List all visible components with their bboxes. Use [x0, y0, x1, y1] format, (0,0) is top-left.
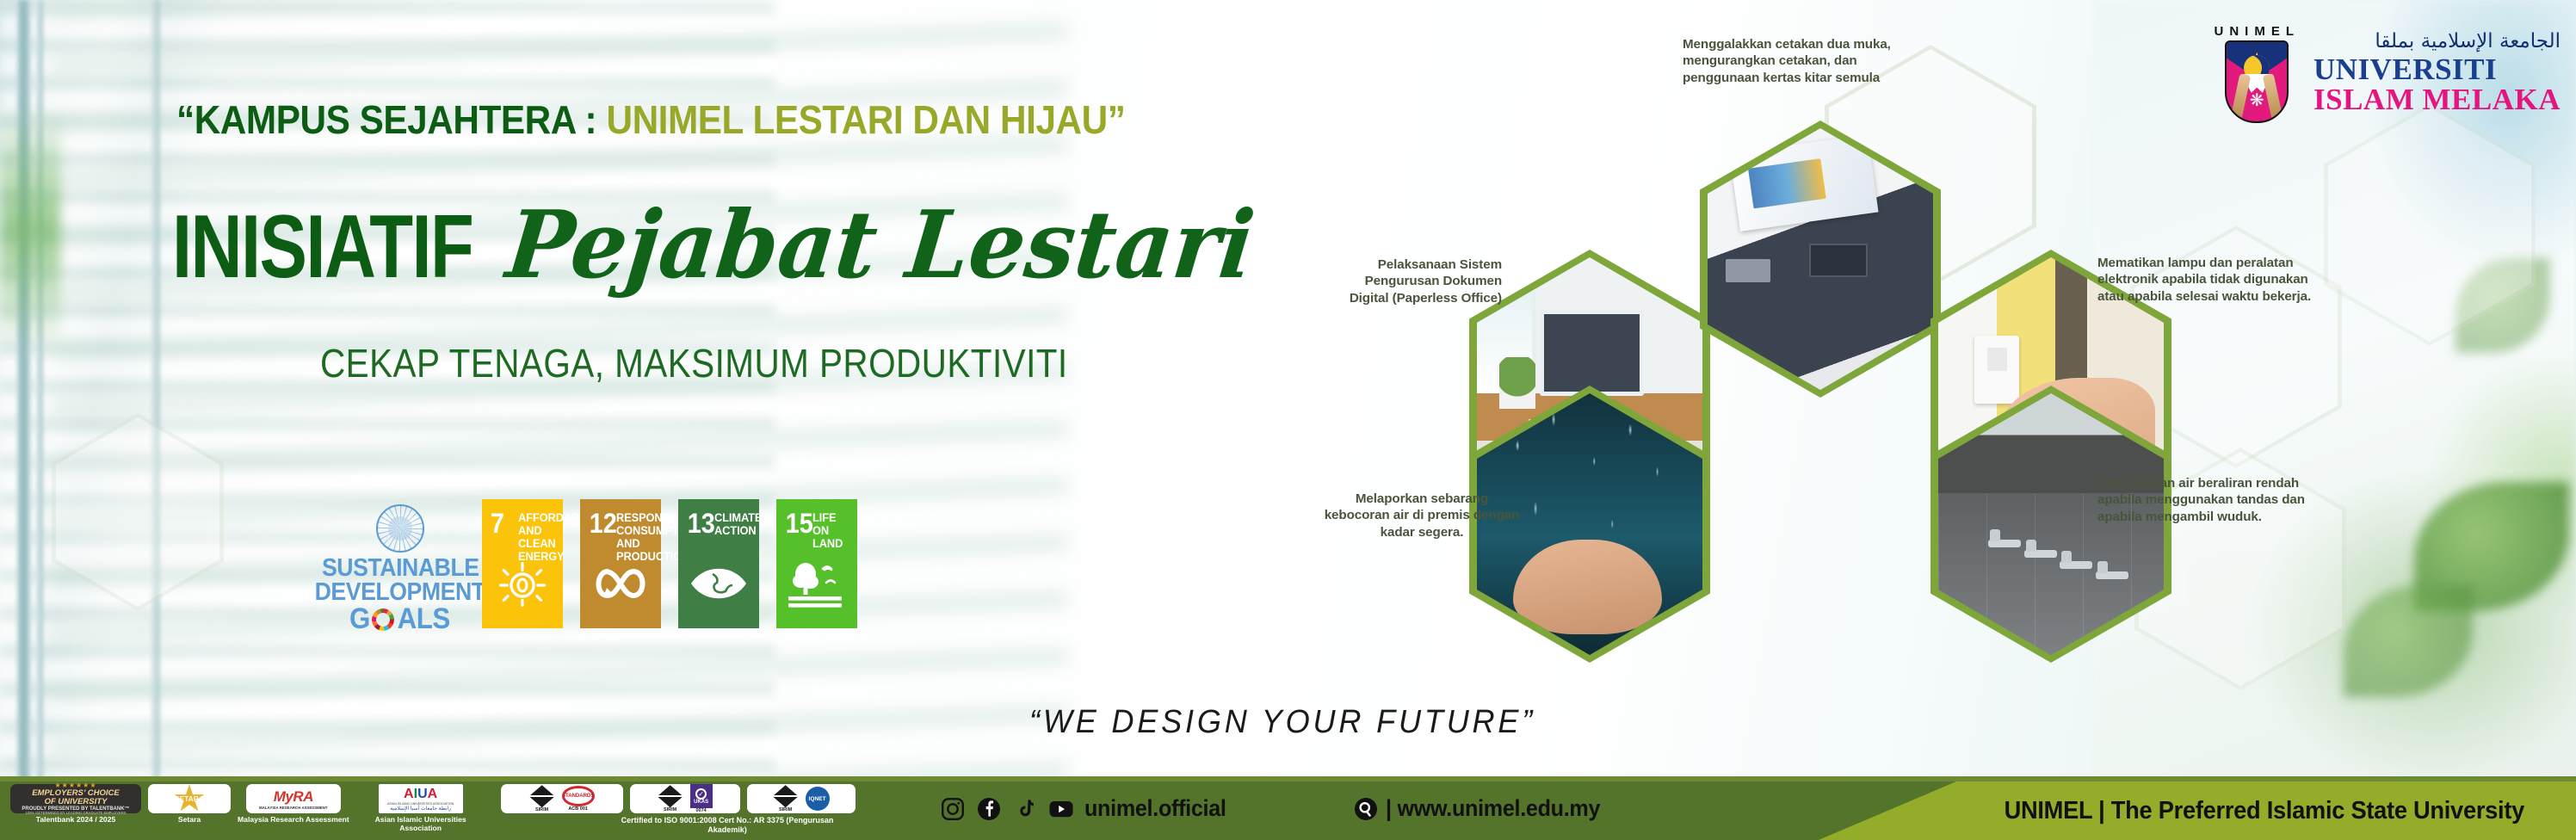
tagline: “WE DESIGN YOUR FUTURE”	[1029, 704, 1535, 741]
infinity-icon	[580, 553, 661, 615]
sdg-card-15[interactable]: 15 LIFE ON LAND	[776, 499, 857, 628]
headline: “KAMPUS SEJAHTERA : UNIMEL LESTARI DAN H…	[176, 96, 1125, 143]
sdg-color-wheel-icon	[372, 608, 394, 631]
cert-setara[interactable]: SETARA Setara	[148, 784, 231, 825]
cert-caption: Talentbank 2024 / 2025	[36, 816, 116, 825]
check-icon: ✓	[695, 788, 707, 800]
sirim-diamond-icon	[773, 785, 799, 807]
globe-eye-icon	[678, 553, 759, 615]
page-title: INISIATIFPejabat Lestari	[172, 191, 1287, 300]
crest-shield-icon: ★ ❋	[2225, 40, 2289, 123]
brand-arabic-text: الجامعة الإسلامية بملقا	[2313, 32, 2561, 52]
annotation-paperless-office: Pelaksanaan Sistem Pengurusan Dokumen Di…	[1325, 256, 1502, 306]
footer-bar: ★★★★★★ EMPLOYERS’ CHOICE OF UNIVERSITY P…	[0, 781, 2576, 840]
cert-talentbank-line2: OF UNIVERSITY	[45, 798, 108, 806]
sdg-section: SUSTAINABLE DEVELOPMENT G ALS 7 AFFORDAB…	[336, 499, 857, 633]
flower-icon: ❋	[2250, 92, 2264, 109]
unimel-wordmark: الجامعة الإسلامية بملقا UNIVERSITI ISLAM…	[2313, 32, 2561, 115]
ukas-label: UKAS	[694, 800, 708, 805]
sdg-card-13[interactable]: 13 CLIMATE ACTION	[678, 499, 759, 628]
iso-certification-caption: Certified to ISO 9001:2008 Cert No.: AR …	[602, 816, 852, 835]
sirim-diamond-icon	[658, 785, 683, 807]
page-subtitle: CEKAP TENAGA, MAKSIMUM PRODUKTIVITI	[320, 340, 1068, 386]
sirim-label: SIRIM	[779, 807, 792, 812]
title-script-word: Pejabat Lestari	[502, 191, 1259, 300]
aiua-letter-1: A	[404, 787, 414, 801]
cert-aiua[interactable]: AIUA ASIAN ISLAMIC UNIVERSITIES ASSOCIAT…	[356, 784, 485, 833]
sdg-logo: SUSTAINABLE DEVELOPMENT G ALS	[336, 499, 465, 633]
website-group: | www.unimel.edu.my	[1353, 795, 1616, 822]
sirim-diamond-icon	[529, 785, 555, 807]
cert-sirim-ukas[interactable]: SIRIM ✓ UKAS 0074	[630, 784, 740, 813]
standards-label: STANDARDS	[562, 794, 594, 799]
iqnet-icon: IQNET	[806, 787, 830, 811]
crest-wordmark: UNIMEL	[2215, 24, 2301, 39]
sdg-card-number: 12	[590, 510, 617, 537]
brand-line1: UNIVERSITI	[2313, 54, 2561, 85]
sirim-code: 0074	[696, 808, 707, 813]
banner-root: “KAMPUS SEJAHTERA : UNIMEL LESTARI DAN H…	[0, 0, 2576, 840]
aiua-arabic: رابطة جامعات آسيا الإسلامية	[390, 806, 451, 812]
sirim-label: SIRIM	[535, 807, 548, 812]
sdg-goals-als: ALS	[397, 605, 449, 633]
standards-malaysia-icon: STANDARDS	[562, 786, 595, 806]
unimel-crest: UNIMEL ★ ❋	[2215, 24, 2301, 123]
myra-subtext: MALAYSIA RESEARCH ASSESSMENT	[259, 806, 328, 810]
myra-wordmark: MyRA	[274, 788, 313, 806]
background-vertical-bar-3	[151, 0, 160, 781]
sdg-card-label: LIFE ON LAND	[812, 511, 850, 550]
sdg-card-number: 15	[786, 510, 813, 537]
ukas-icon: ✓ UKAS	[690, 784, 713, 808]
iqnet-label: IQNET	[809, 796, 826, 802]
keris-right-icon	[2263, 73, 2283, 120]
tiktok-icon[interactable]	[1012, 796, 1038, 822]
title-main-word: INISIATIF	[172, 196, 473, 299]
tree-birds-icon	[776, 553, 857, 615]
sdg-card-7[interactable]: 7 AFFORDABLE AND CLEAN ENERGY	[482, 499, 563, 628]
social-handle[interactable]: unimel.official	[1084, 795, 1226, 822]
facebook-icon[interactable]	[976, 796, 1002, 822]
website-url[interactable]: | www.unimel.edu.my	[1386, 795, 1600, 822]
sdg-card-label: CLIMATE ACTION	[714, 511, 752, 537]
keris-left-icon	[2231, 73, 2252, 120]
annotation-report-water-leaks: Melaporkan sebarang kebocoran air di pre…	[1324, 491, 1520, 540]
sdg-card-number: 13	[688, 510, 715, 537]
sdg-card-number: 7	[491, 510, 504, 537]
sirim-code: ACB 001	[568, 806, 588, 812]
cert-talentbank[interactable]: ★★★★★★ EMPLOYERS’ CHOICE OF UNIVERSITY P…	[10, 784, 141, 825]
sun-icon	[482, 553, 563, 615]
aiua-letter-4: A	[428, 787, 438, 801]
cert-caption: Malaysia Research Assessment	[238, 816, 349, 825]
sdg-goals-g: G	[349, 605, 370, 633]
sirim-label: SIRIM	[664, 807, 676, 812]
instagram-icon[interactable]	[940, 796, 966, 822]
aiua-wordmark: AIUA	[404, 787, 437, 802]
brand-line2: ISLAM MELAKA	[2313, 84, 2561, 115]
un-emblem-icon	[376, 504, 424, 553]
footer-slogan: UNIMEL | The Preferred Islamic State Uni…	[2005, 797, 2524, 825]
printer-photo	[1708, 128, 1933, 390]
cert-caption: Asian Islamic Universities Association	[356, 816, 485, 833]
cert-myra[interactable]: MyRA MALAYSIA RESEARCH ASSESSMENT Malays…	[238, 784, 349, 825]
search-icon[interactable]	[1353, 796, 1379, 822]
setara-star-icon: SETARA	[174, 784, 205, 813]
headline-dark-text: “KAMPUS SEJAHTERA :	[176, 97, 606, 142]
unimel-logo[interactable]: UNIMEL ★ ❋ الجامعة الإسلامية بملقا UNIVE…	[2215, 24, 2561, 123]
headline-olive-text: UNIMEL LESTARI DAN HIJAU”	[606, 97, 1125, 142]
sdg-logo-goals: G ALS	[349, 605, 452, 633]
cert-sirim-iqnet[interactable]: SIRIM IQNET	[747, 784, 856, 813]
setara-wordmark: SETARA	[175, 795, 204, 803]
sdg-logo-line2: DEVELOPMENT	[315, 580, 485, 604]
background-green-glow	[0, 103, 60, 353]
youtube-icon[interactable]	[1048, 796, 1074, 822]
annotation-double-sided-printing: Menggalakkan cetakan dua muka, mengurang…	[1683, 36, 1915, 86]
sdg-logo-line1: SUSTAINABLE	[322, 556, 479, 580]
cert-sirim-acb[interactable]: SIRIM STANDARDS ACB 001	[501, 784, 623, 813]
annotation-low-flow-water: Penggunaan air beraliran rendah apabila …	[2097, 475, 2308, 525]
aiua-letter-3: U	[417, 787, 428, 801]
cert-caption: Setara	[178, 816, 201, 825]
annotation-switch-off-electronics: Mematikan lampu dan peralatan elektronik…	[2097, 255, 2313, 305]
sdg-card-12[interactable]: 12 RESPONSIBLE CONSUMPTION AND PRODUCTIO…	[580, 499, 661, 628]
social-media-group: unimel.official	[940, 795, 1237, 822]
